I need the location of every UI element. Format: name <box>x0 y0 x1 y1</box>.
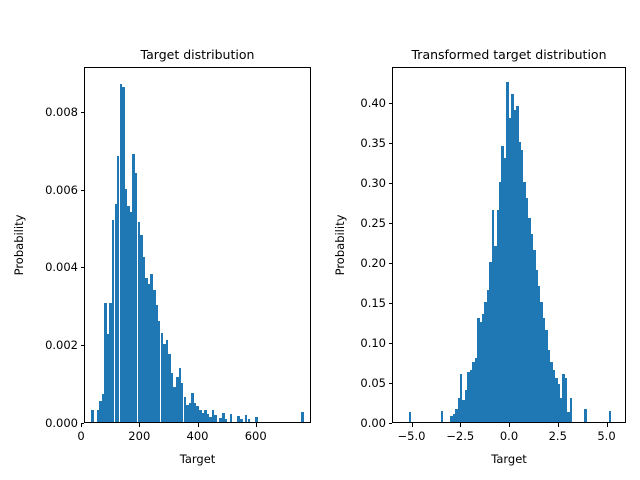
y-tick-label: 0.008 <box>36 105 78 119</box>
y-tick-label: 0.25 <box>344 216 386 230</box>
right-x-axis-label: Target <box>491 452 527 466</box>
matplotlib-figure: Target distribution 0.0000.0020.0040.006… <box>0 0 640 480</box>
x-tick-label: −2.5 <box>446 429 474 443</box>
y-tick-mark <box>389 103 393 104</box>
y-tick-label: 0.15 <box>344 296 386 310</box>
y-tick-mark <box>389 383 393 384</box>
y-tick-label: 0.20 <box>344 256 386 270</box>
left-plot-title: Target distribution <box>84 47 311 62</box>
left-histogram-bars <box>85 68 310 422</box>
histogram-bar <box>441 411 443 422</box>
left-x-axis-label: Target <box>180 452 216 466</box>
histogram-bar <box>409 412 411 422</box>
y-tick-label: 0.10 <box>344 336 386 350</box>
right-histogram-bars <box>393 68 625 422</box>
y-tick-mark <box>81 190 85 191</box>
right-y-axis-label: Probability <box>333 215 347 276</box>
histogram-bar <box>609 411 611 422</box>
y-tick-label: 0.006 <box>36 183 78 197</box>
y-tick-label: 0.05 <box>344 376 386 390</box>
y-tick-mark <box>389 183 393 184</box>
x-tick-mark <box>139 423 140 427</box>
left-axes-frame <box>84 67 311 423</box>
x-tick-mark <box>558 423 559 427</box>
histogram-bar <box>255 417 258 422</box>
histogram-bar <box>248 419 251 422</box>
y-tick-label: 0.35 <box>344 136 386 150</box>
x-tick-mark <box>509 423 510 427</box>
y-tick-label: 0.00 <box>344 416 386 430</box>
y-tick-mark <box>81 112 85 113</box>
x-tick-label: 200 <box>128 429 150 443</box>
y-tick-mark <box>81 345 85 346</box>
x-tick-label: 0 <box>77 429 84 443</box>
right-plot-title: Transformed target distribution <box>392 47 626 62</box>
right-axes-frame <box>392 67 626 423</box>
histogram-bar <box>230 414 233 422</box>
histogram-bar <box>240 419 243 422</box>
y-tick-label: 0.000 <box>36 416 78 430</box>
y-tick-mark <box>389 143 393 144</box>
histogram-bar <box>214 415 217 422</box>
x-tick-mark <box>607 423 608 427</box>
y-tick-label: 0.002 <box>36 338 78 352</box>
y-tick-mark <box>389 343 393 344</box>
x-tick-label: −5.0 <box>398 429 426 443</box>
y-tick-mark <box>389 423 393 424</box>
y-tick-mark <box>389 223 393 224</box>
x-tick-mark <box>81 423 82 427</box>
x-tick-mark <box>256 423 257 427</box>
histogram-bar <box>584 409 586 422</box>
left-y-axis-label: Probability <box>12 215 26 276</box>
y-tick-label: 0.004 <box>36 260 78 274</box>
histogram-bar <box>91 410 94 422</box>
x-tick-mark <box>412 423 413 427</box>
x-tick-mark <box>460 423 461 427</box>
y-tick-label: 0.30 <box>344 176 386 190</box>
x-tick-mark <box>198 423 199 427</box>
histogram-bar <box>301 412 304 422</box>
y-tick-mark <box>389 263 393 264</box>
y-tick-mark <box>389 303 393 304</box>
x-tick-label: 2.5 <box>549 429 567 443</box>
y-tick-label: 0.40 <box>344 96 386 110</box>
y-tick-mark <box>81 267 85 268</box>
x-tick-label: 5.0 <box>597 429 615 443</box>
histogram-bar <box>570 398 572 422</box>
x-tick-label: 600 <box>245 429 267 443</box>
histogram-bar <box>225 419 228 422</box>
x-tick-label: 0.0 <box>500 429 518 443</box>
x-tick-label: 400 <box>187 429 209 443</box>
